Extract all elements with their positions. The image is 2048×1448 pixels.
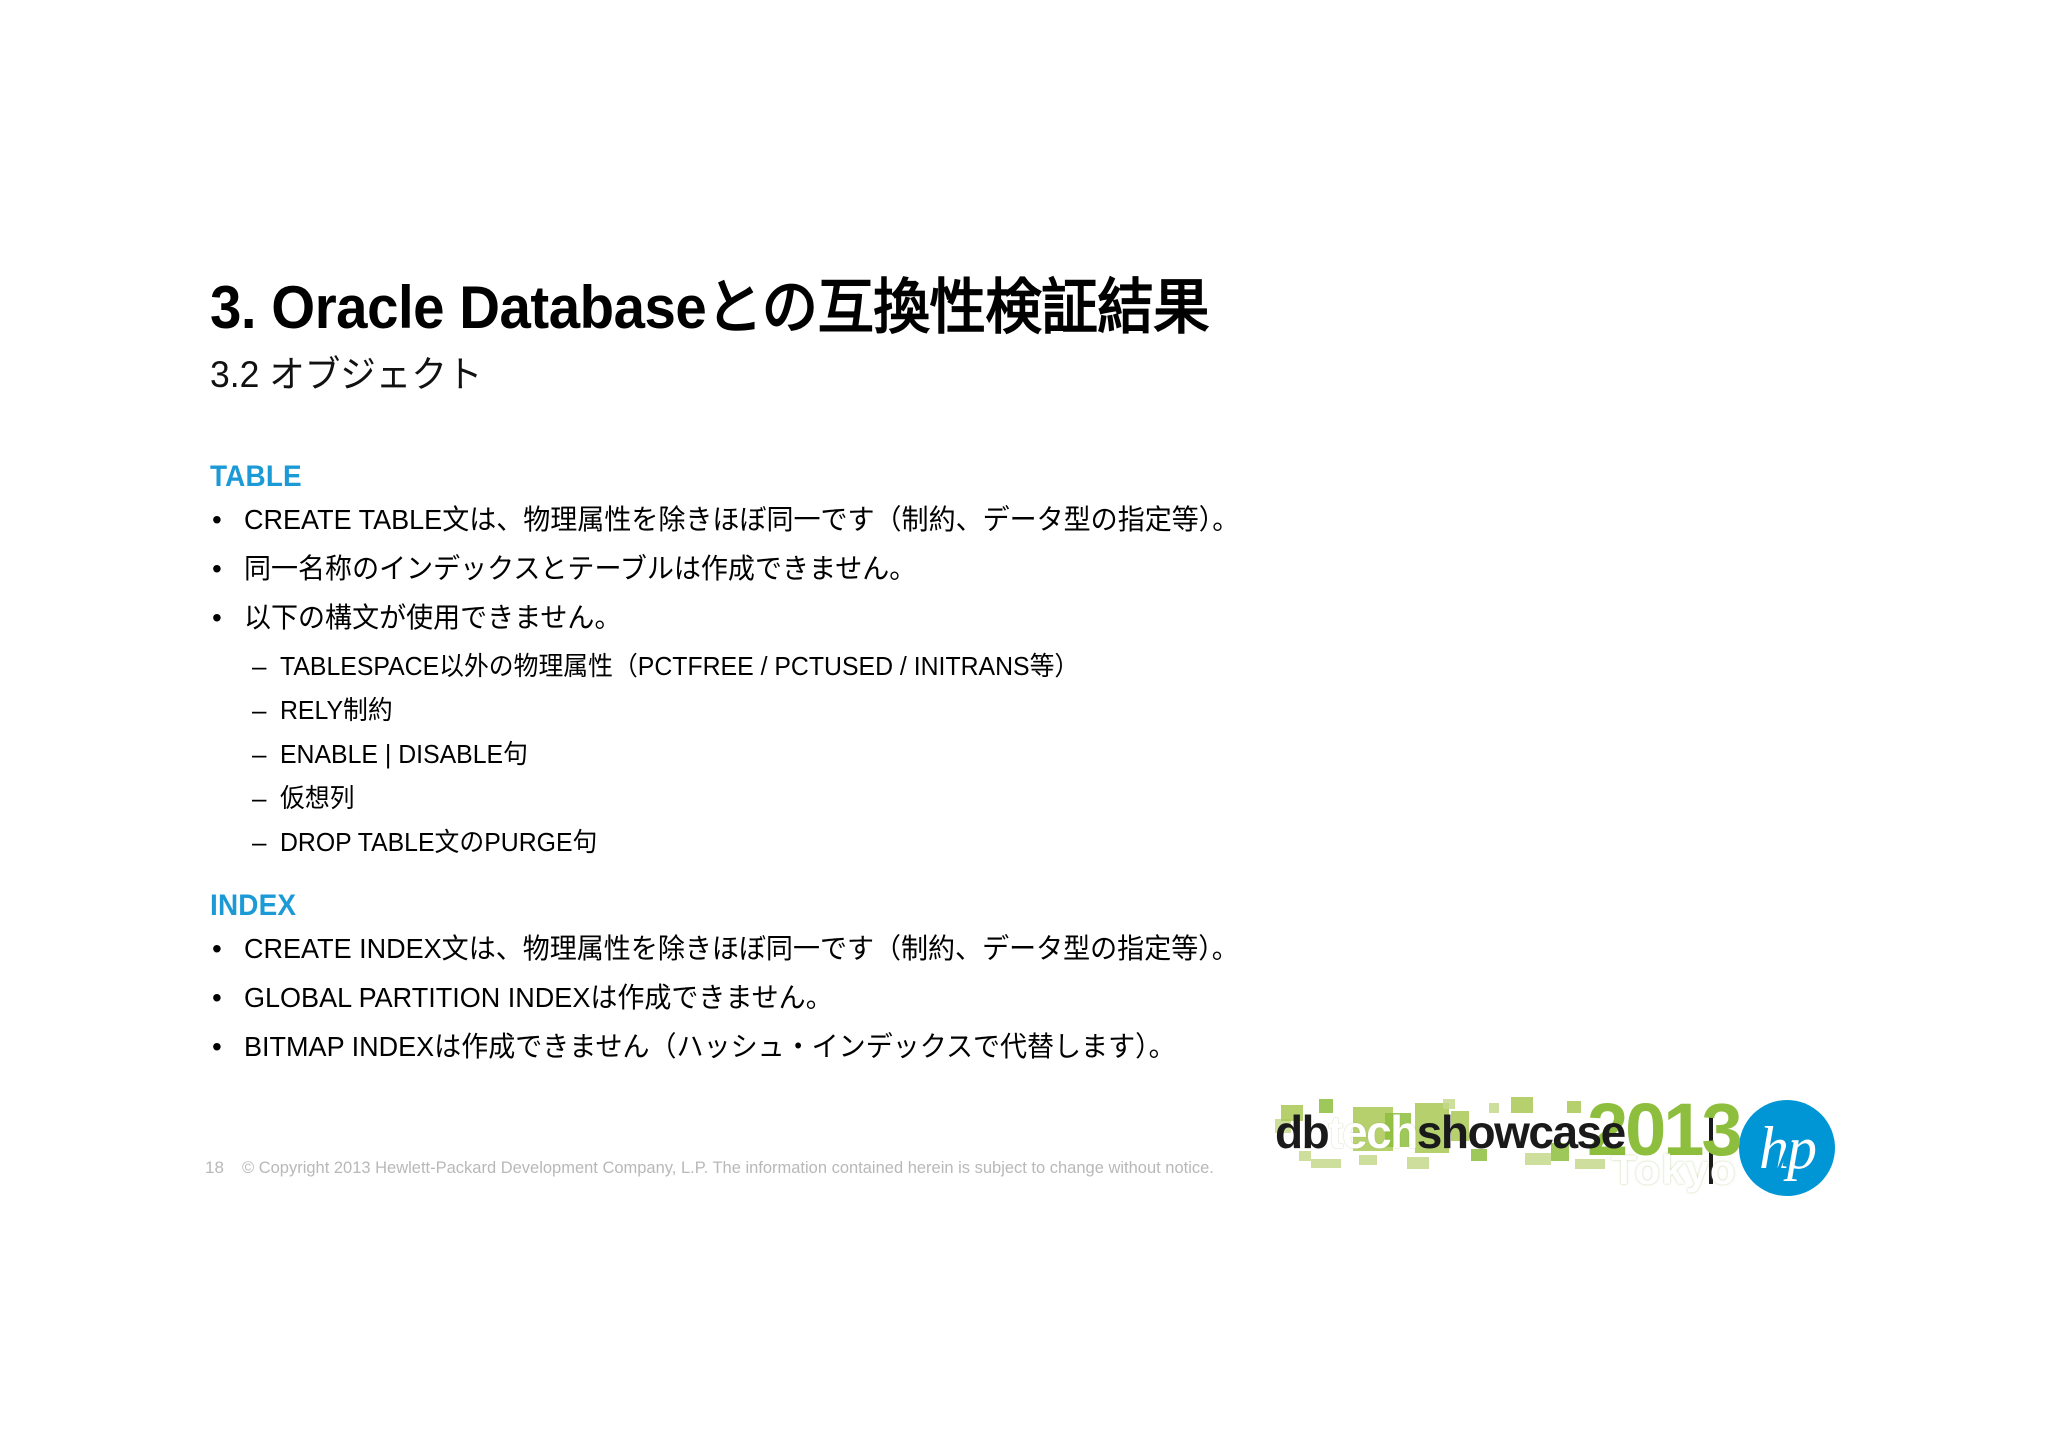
db-tech-showcase-logo: 2013 dbtechshowcase Tokyo xyxy=(1275,1093,1685,1203)
bullet-text: CREATE INDEX文は、物理属性を除きほぼ同一です（制約、データ型の指定等… xyxy=(244,935,1239,963)
logo-word-db: db xyxy=(1275,1106,1328,1158)
bullet-dot-icon: • xyxy=(212,1033,238,1061)
bullet-text: 同一名称のインデックスとテーブルは作成できません。 xyxy=(244,555,916,583)
logo-area: 2013 dbtechshowcase Tokyo hp xyxy=(1275,1085,1915,1210)
logo-wordmark: dbtechshowcase xyxy=(1275,1109,1625,1155)
page-title: 3. Oracle Databaseとの互換性検証結果 xyxy=(210,276,1714,339)
sub-bullet-text: ENABLE | DISABLE句 xyxy=(280,741,528,767)
bullet-list-table: • CREATE TABLE文は、物理属性を除きほぼ同一です（制約、データ型の指… xyxy=(210,506,1830,632)
title-block: 3. Oracle Databaseとの互換性検証結果 3.2 オブジェクト xyxy=(210,276,1810,396)
section-heading-table: TABLE xyxy=(210,462,1717,492)
list-item: – RELY制約 xyxy=(210,697,1830,723)
bullet-list-index: • CREATE INDEX文は、物理属性を除きほぼ同一です（制約、データ型の指… xyxy=(210,935,1830,1061)
logo-word-tech: tech xyxy=(1328,1106,1417,1158)
section-heading-index: INDEX xyxy=(210,891,1717,921)
slide-footer: 18 © Copyright 2013 Hewlett-Packard Deve… xyxy=(205,1158,1244,1178)
list-item: • BITMAP INDEXは作成できません（ハッシュ・インデックスで代替します… xyxy=(210,1033,1830,1061)
list-item: – TABLESPACE以外の物理属性（PCTFREE / PCTUSED / … xyxy=(210,653,1830,679)
list-item: – ENABLE | DISABLE句 xyxy=(210,741,1830,767)
logo-city: Tokyo xyxy=(1611,1149,1737,1191)
bullet-text: GLOBAL PARTITION INDEXは作成できません。 xyxy=(244,984,833,1012)
bullet-text: CREATE TABLE文は、物理属性を除きほぼ同一です（制約、データ型の指定等… xyxy=(244,506,1239,534)
bullet-dash-icon: – xyxy=(252,785,266,811)
bullet-dot-icon: • xyxy=(212,506,238,534)
list-item: – 仮想列 xyxy=(210,785,1830,811)
bullet-dot-icon: • xyxy=(212,555,238,583)
bullet-dash-icon: – xyxy=(252,741,266,767)
sub-bullet-text: DROP TABLE文のPURGE句 xyxy=(280,829,597,855)
bullet-dot-icon: • xyxy=(212,984,238,1012)
hp-logo: hp xyxy=(1739,1100,1835,1196)
list-item: • 同一名称のインデックスとテーブルは作成できません。 xyxy=(210,555,1830,583)
bullet-dash-icon: – xyxy=(252,653,266,679)
bullet-dash-icon: – xyxy=(252,697,266,723)
sub-bullet-list-table: – TABLESPACE以外の物理属性（PCTFREE / PCTUSED / … xyxy=(210,653,1830,855)
list-item: • CREATE TABLE文は、物理属性を除きほぼ同一です（制約、データ型の指… xyxy=(210,506,1830,534)
sub-bullet-text: 仮想列 xyxy=(280,785,355,811)
page-subtitle: 3.2 オブジェクト xyxy=(210,355,1746,396)
slide-canvas: 3. Oracle Databaseとの互換性検証結果 3.2 オブジェクト T… xyxy=(0,0,2048,1448)
logo-word-showcase: showcase xyxy=(1417,1106,1625,1158)
page-number: 18 xyxy=(205,1158,224,1178)
sub-bullet-text: RELY制約 xyxy=(280,697,393,723)
bullet-dot-icon: • xyxy=(212,935,238,963)
list-item: – DROP TABLE文のPURGE句 xyxy=(210,829,1830,855)
copyright-text: © Copyright 2013 Hewlett-Packard Develop… xyxy=(242,1158,1214,1178)
list-item: • CREATE INDEX文は、物理属性を除きほぼ同一です（制約、データ型の指… xyxy=(210,935,1830,963)
slide-content: TABLE • CREATE TABLE文は、物理属性を除きほぼ同一です（制約、… xyxy=(210,462,1830,1082)
list-item: • GLOBAL PARTITION INDEXは作成できません。 xyxy=(210,984,1830,1012)
sub-bullet-text: TABLESPACE以外の物理属性（PCTFREE / PCTUSED / IN… xyxy=(280,653,1079,679)
list-item: • 以下の構文が使用できません。 xyxy=(210,604,1830,632)
bullet-text: BITMAP INDEXは作成できません（ハッシュ・インデックスで代替します）。 xyxy=(244,1033,1176,1061)
bullet-text: 以下の構文が使用できません。 xyxy=(244,604,621,632)
bullet-dash-icon: – xyxy=(252,829,266,855)
bullet-dot-icon: • xyxy=(212,604,238,632)
